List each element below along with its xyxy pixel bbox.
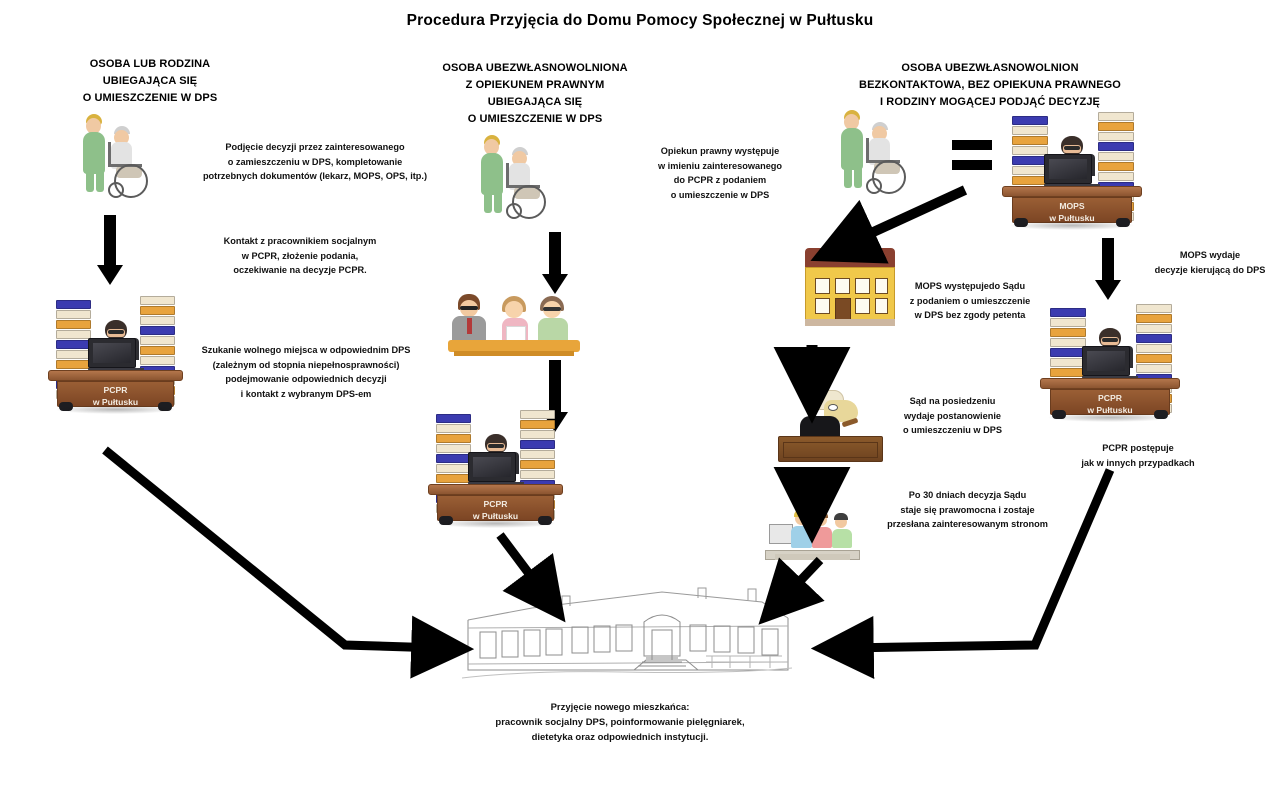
step-pcpr-proceeds-line-1: PCPR postępuje: [1048, 441, 1228, 456]
step-contact-line-1: Kontakt z pracownikiem socjalnym: [190, 234, 410, 249]
step-text-guardian: Opiekun prawny występuje w imieniu zaint…: [620, 144, 820, 202]
step-guardian-line-3: do PCPR z podaniem: [620, 173, 820, 188]
step-legal-force-line-2: staje się prawomocna i zostaje: [875, 503, 1060, 518]
step-text-contact: Kontakt z pracownikiem socjalnym w PCPR,…: [190, 234, 410, 278]
illustration-judge: [778, 390, 883, 462]
sign-pcpr-left-line1: PCPR: [48, 384, 183, 396]
step-court-ruling-line-2: wydaje postanowienie: [880, 409, 1025, 424]
step-text-decision: Podjęcie decyzji przez zainteresowanego …: [190, 140, 440, 184]
step-text-search: Szukanie wolnego miejsca w odpowiednim D…: [186, 343, 426, 401]
step-guardian-line-4: o umieszczenie w DPS: [620, 188, 820, 203]
illustration-desk-pcpr-right: PCPR w Pułtusku: [1040, 304, 1180, 422]
step-decision-line-1: Podjęcie decyzji przez zainteresowanego: [190, 140, 440, 155]
step-court-ruling-line-1: Sąd na posiedzeniu: [880, 394, 1025, 409]
step-guardian-line-1: Opiekun prawny występuje: [620, 144, 820, 159]
step-legal-force-line-1: Po 30 dniach decyzja Sądu: [875, 488, 1060, 503]
column-heading-2: OSOBA UBEZWŁASNOWOLNIONA Z OPIEKUNEM PRA…: [390, 60, 680, 128]
step-text-legal-force: Po 30 dniach decyzja Sądu staje się praw…: [875, 488, 1060, 532]
step-search-line-2: (zależnym od stopnia niepełnosprawności): [186, 358, 426, 373]
step-text-pcpr-proceeds: PCPR postępuje jak w innych przypadkach: [1048, 441, 1228, 470]
column-heading-2-line-2: Z OPIEKUNEM PRAWNYM: [390, 77, 680, 94]
illustration-carer-elder-middle: [478, 133, 558, 221]
step-search-line-4: i kontakt z wybranym DPS-em: [186, 387, 426, 402]
illustration-meeting: [440, 288, 585, 360]
arrow-col1-to-pcpr: [95, 215, 125, 285]
step-decision-line-3: potrzebnych dokumentów (lekarz, MOPS, OP…: [190, 169, 440, 184]
step-decision-line-2: o zamieszczeniu w DPS, kompletowanie: [190, 155, 440, 170]
flowchart-canvas: Procedura Przyjęcia do Domu Pomocy Społe…: [0, 0, 1280, 789]
step-legal-force-line-3: przesłana zainteresowanym stronom: [875, 517, 1060, 532]
final-caption: Przyjęcie nowego mieszkańca: pracownik s…: [455, 700, 785, 745]
column-heading-2-line-1: OSOBA UBEZWŁASNOWOLNIONA: [390, 60, 680, 77]
step-mops-court-line-1: MOPS występujedo Sądu: [895, 279, 1045, 294]
equals-sign: [952, 140, 992, 174]
column-heading-1-line-3: O UMIESZCZENIE W DPS: [10, 90, 290, 107]
step-mops-court-line-2: z podaniem o umieszczenie: [895, 294, 1045, 309]
step-text-court-ruling: Sąd na posiedzeniu wydaje postanowienie …: [880, 394, 1025, 438]
column-heading-1-line-1: OSOBA LUB RODZINA: [10, 56, 290, 73]
illustration-staff-group: [765, 506, 860, 568]
step-mops-decision-line-2: decyzje kierującą do DPS: [1140, 263, 1280, 278]
step-mops-decision-line-1: MOPS wydaje: [1140, 248, 1280, 263]
step-contact-line-3: oczekiwanie na decyzje PCPR.: [190, 263, 410, 278]
step-text-mops-court: MOPS występujedo Sądu z podaniem o umies…: [895, 279, 1045, 323]
column-heading-3: OSOBA UBEZWŁASNOWOLNION BEZKONTAKTOWA, B…: [790, 60, 1190, 111]
final-caption-line-1: Przyjęcie nowego mieszkańca:: [455, 700, 785, 715]
arrow-pcpr-left-to-dps: [105, 450, 440, 648]
step-pcpr-proceeds-line-2: jak w innych przypadkach: [1048, 456, 1228, 471]
illustration-townhouse: [805, 248, 895, 326]
column-heading-1-line-2: UBIEGAJĄCA SIĘ: [10, 73, 290, 90]
final-caption-line-3: dietetyka oraz odpowiednich instytucji.: [455, 730, 785, 745]
step-mops-court-line-3: w DPS bez zgody petenta: [895, 308, 1045, 323]
column-heading-3-line-2: BEZKONTAKTOWA, BEZ OPIEKUNA PRAWNEGO: [790, 77, 1190, 94]
illustration-dps-building: [462, 578, 792, 688]
step-search-line-1: Szukanie wolnego miejsca w odpowiednim D…: [186, 343, 426, 358]
page-title: Procedura Przyjęcia do Domu Pomocy Społe…: [250, 12, 1030, 30]
sign-pcpr-middle-line1: PCPR: [428, 498, 563, 510]
arrow-person-to-townhouse: [845, 190, 965, 245]
step-guardian-line-2: w imieniu zainteresowanego: [620, 159, 820, 174]
step-contact-line-2: w PCPR, złożenie podania,: [190, 249, 410, 264]
column-heading-3-line-1: OSOBA UBEZWŁASNOWOLNION: [790, 60, 1190, 77]
column-heading-2-line-3: UBIEGAJĄCA SIĘ: [390, 94, 680, 111]
final-caption-line-2: pracownik socjalny DPS, poinformowanie p…: [455, 715, 785, 730]
step-search-line-3: podejmowanie odpowiednich decyzji: [186, 372, 426, 387]
step-court-ruling-line-3: o umieszczeniu w DPS: [880, 423, 1025, 438]
illustration-desk-pcpr-middle: PCPR w Pułtusku: [428, 410, 563, 528]
illustration-desk-mops-right: MOPS w Pułtusku: [1002, 112, 1142, 230]
sign-pcpr-right-line1: PCPR: [1040, 392, 1180, 404]
sign-mops-right-line1: MOPS: [1002, 200, 1142, 212]
arrow-col2-to-meeting: [540, 232, 570, 294]
column-heading-1: OSOBA LUB RODZINA UBIEGAJĄCA SIĘ O UMIES…: [10, 56, 290, 107]
illustration-carer-elder-right: [838, 108, 918, 196]
arrow-mops-to-pcpr-right: [1093, 238, 1123, 300]
step-text-mops-decision: MOPS wydaje decyzje kierującą do DPS: [1140, 248, 1280, 277]
column-heading-2-line-4: O UMIESZCZENIE W DPS: [390, 111, 680, 128]
illustration-desk-pcpr-left: PCPR w Pułtusku: [48, 296, 183, 414]
illustration-carer-elder-left: [80, 112, 160, 200]
